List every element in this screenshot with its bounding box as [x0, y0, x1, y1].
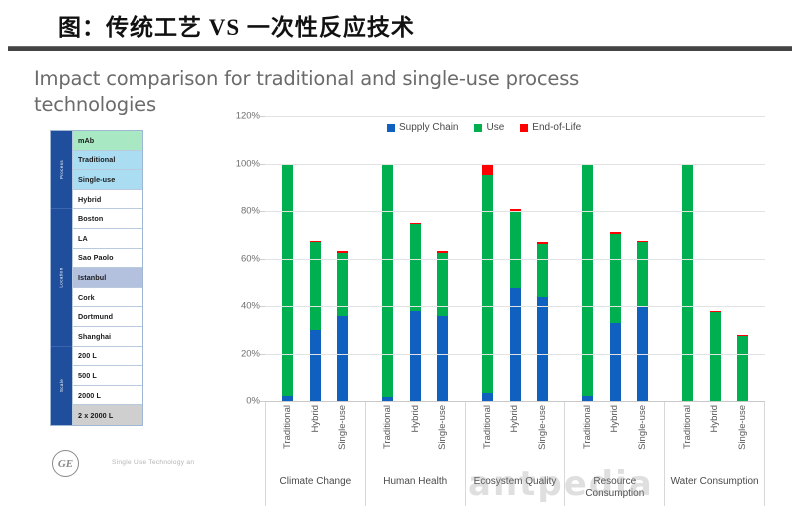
sidebar-row-traditional[interactable]: Traditional: [72, 151, 142, 171]
sidebar-row-label: 500 L: [78, 371, 97, 380]
bar-segment-use: [482, 175, 493, 392]
bar-segment-end-of-life: [482, 164, 493, 176]
bar-segment-supply-chain: [337, 316, 348, 402]
x-axis-tick-row: TraditionalHybridSingle-use: [565, 402, 664, 474]
sidebar-row-hybrid[interactable]: Hybrid: [72, 190, 142, 210]
sidebar-row-2-x-2000-l[interactable]: 2 x 2000 L: [72, 405, 142, 425]
sidebar-row-label: Hybrid: [78, 195, 101, 204]
header-divider: [8, 46, 792, 51]
sidebar-group-scale: Scale: [51, 347, 72, 425]
x-axis-tick-label: Traditional: [382, 405, 393, 449]
sidebar-row-la[interactable]: LA: [72, 229, 142, 249]
x-axis-tick-label: Hybrid: [509, 405, 520, 432]
x-axis-tick-label: Single-use: [637, 405, 648, 450]
y-axis-tick-label: 0%: [246, 396, 260, 407]
chart-container: Supply ChainUseEnd-of-Life 0%20%40%60%80…: [215, 110, 785, 510]
bar-segment-use: [582, 164, 593, 397]
sidebar-row-200-l[interactable]: 200 L: [72, 347, 142, 367]
x-axis-tick-row: TraditionalHybridSingle-use: [466, 402, 565, 474]
y-axis-tick-label: 40%: [241, 301, 260, 312]
x-axis-group-resource-consumption: TraditionalHybridSingle-useResource Cons…: [565, 402, 665, 506]
bar-segment-supply-chain: [410, 311, 421, 401]
bar-segment-supply-chain: [537, 297, 548, 402]
bar-segment-use: [310, 242, 321, 330]
y-axis-tick-mark: [260, 164, 265, 165]
sidebar-row-label: Shanghai: [78, 332, 111, 341]
x-axis-tick-label: Single-use: [737, 405, 748, 450]
x-axis-tick-label: Hybrid: [609, 405, 620, 432]
gridline: [265, 306, 765, 307]
sidebar-row-500-l[interactable]: 500 L: [72, 366, 142, 386]
bar-segment-use: [510, 211, 521, 288]
bar-segment-use: [710, 312, 721, 401]
ge-logo: GE: [52, 450, 79, 477]
bar-segment-use: [682, 164, 693, 402]
sidebar-row-boston[interactable]: Boston: [72, 209, 142, 229]
bar-segment-supply-chain: [310, 330, 321, 401]
x-axis-tick-label: Hybrid: [410, 405, 421, 432]
x-axis-tick-label: Hybrid: [709, 405, 720, 432]
x-axis-group-label: Ecosystem Quality: [466, 474, 565, 506]
configuration-selector-table: ProcessLocationScale mAbTraditionalSingl…: [50, 130, 143, 426]
page-title: 图：传统工艺 VS 一次性反应技术: [58, 8, 415, 42]
bar-segment-use: [737, 336, 748, 401]
sidebar-row-label: Traditional: [78, 155, 115, 164]
bar-segment-use: [382, 164, 393, 398]
sidebar-row-label: 2000 L: [78, 391, 101, 400]
bar-segment-supply-chain: [610, 323, 621, 401]
x-axis-tick-row: TraditionalHybridSingle-use: [366, 402, 465, 474]
sidebar-row-istanbul[interactable]: Istanbul: [72, 268, 142, 288]
sidebar-group-column: ProcessLocationScale: [51, 131, 72, 425]
bar-segment-use: [282, 164, 293, 397]
sidebar-row-shanghai[interactable]: Shanghai: [72, 327, 142, 347]
x-axis-tick-label: Single-use: [437, 405, 448, 450]
x-axis-tick-row: TraditionalHybridSingle-use: [266, 402, 365, 474]
sidebar-group-label: Location: [59, 267, 64, 287]
bar-segment-use: [537, 244, 548, 296]
sidebar-row-single-use[interactable]: Single-use: [72, 170, 142, 190]
bar-segment-supply-chain: [437, 316, 448, 402]
sidebar-row-label: Sao Paolo: [78, 253, 114, 262]
x-axis-group-ecosystem-quality: TraditionalHybridSingle-useEcosystem Qua…: [466, 402, 566, 506]
gridline: [265, 116, 765, 117]
x-axis-group-label: Water Consumption: [665, 474, 764, 506]
bar-segment-supply-chain: [482, 393, 493, 401]
x-axis-tick-row: TraditionalHybridSingle-use: [665, 402, 764, 474]
sidebar-row-mab[interactable]: mAb: [72, 131, 142, 151]
x-axis-group-water-consumption: TraditionalHybridSingle-useWater Consump…: [665, 402, 765, 506]
sidebar-group-process: Process: [51, 131, 72, 209]
sidebar-row-label: mAb: [78, 136, 94, 145]
x-axis-group-label: Human Health: [366, 474, 465, 506]
sidebar-row-label: LA: [78, 234, 88, 243]
x-axis-group-climate-change: TraditionalHybridSingle-useClimate Chang…: [265, 402, 366, 506]
y-axis-tick-mark: [260, 211, 265, 212]
sidebar-group-label: Scale: [59, 379, 64, 392]
x-axis-tick-label: Traditional: [482, 405, 493, 449]
bar-segment-use: [610, 234, 621, 323]
x-axis-tick-label: Traditional: [682, 405, 693, 449]
sidebar-row-dortmund[interactable]: Dortmund: [72, 307, 142, 327]
gridline: [265, 211, 765, 212]
y-axis-tick-mark: [260, 354, 265, 355]
x-axis-group-human-health: TraditionalHybridSingle-useHuman Health: [366, 402, 466, 506]
sidebar-row-sao-paolo[interactable]: Sao Paolo: [72, 249, 142, 269]
y-axis-tick-mark: [260, 116, 265, 117]
y-axis-tick-mark: [260, 259, 265, 260]
x-axis-group-label: Resource Consumption: [565, 474, 664, 506]
sidebar-row-2000-l[interactable]: 2000 L: [72, 386, 142, 406]
bar-segment-use: [410, 224, 421, 311]
sidebar-row-cork[interactable]: Cork: [72, 288, 142, 308]
y-axis-tick-mark: [260, 306, 265, 307]
sidebar-group-label: Process: [59, 160, 64, 179]
x-axis-tick-label: Traditional: [582, 405, 593, 449]
x-axis-tick-label: Traditional: [282, 405, 293, 449]
y-axis-tick-label: 80%: [241, 206, 260, 217]
bar-segment-use: [637, 242, 648, 306]
gridline: [265, 259, 765, 260]
sidebar-row-label: Istanbul: [78, 273, 106, 282]
y-axis-tick-label: 100%: [236, 158, 260, 169]
sidebar-row-label: Dortmund: [78, 312, 113, 321]
x-axis-tick-label: Single-use: [537, 405, 548, 450]
slide-body: Impact comparison for traditional and si…: [0, 52, 800, 516]
y-axis-tick-label: 20%: [241, 348, 260, 359]
y-axis-tick-label: 60%: [241, 253, 260, 264]
x-axis-tick-label: Hybrid: [310, 405, 321, 432]
y-axis-tick-label: 120%: [236, 111, 260, 122]
gridline: [265, 354, 765, 355]
sidebar-row-label: 200 L: [78, 351, 97, 360]
sidebar-row-label: Cork: [78, 293, 95, 302]
x-axis-tick-label: Single-use: [337, 405, 348, 450]
sidebar-row-label: 2 x 2000 L: [78, 411, 113, 420]
sidebar-row-column: mAbTraditionalSingle-useHybridBostonLASa…: [72, 131, 142, 425]
x-axis: TraditionalHybridSingle-useClimate Chang…: [265, 401, 765, 506]
sidebar-row-label: Boston: [78, 214, 103, 223]
footer-note: Single Use Technology an: [112, 459, 194, 466]
sidebar-group-location: Location: [51, 209, 72, 346]
x-axis-group-label: Climate Change: [266, 474, 365, 506]
gridline: [265, 164, 765, 165]
plot-area: 0%20%40%60%80%100%120%: [265, 116, 765, 401]
sidebar-row-label: Single-use: [78, 175, 115, 184]
